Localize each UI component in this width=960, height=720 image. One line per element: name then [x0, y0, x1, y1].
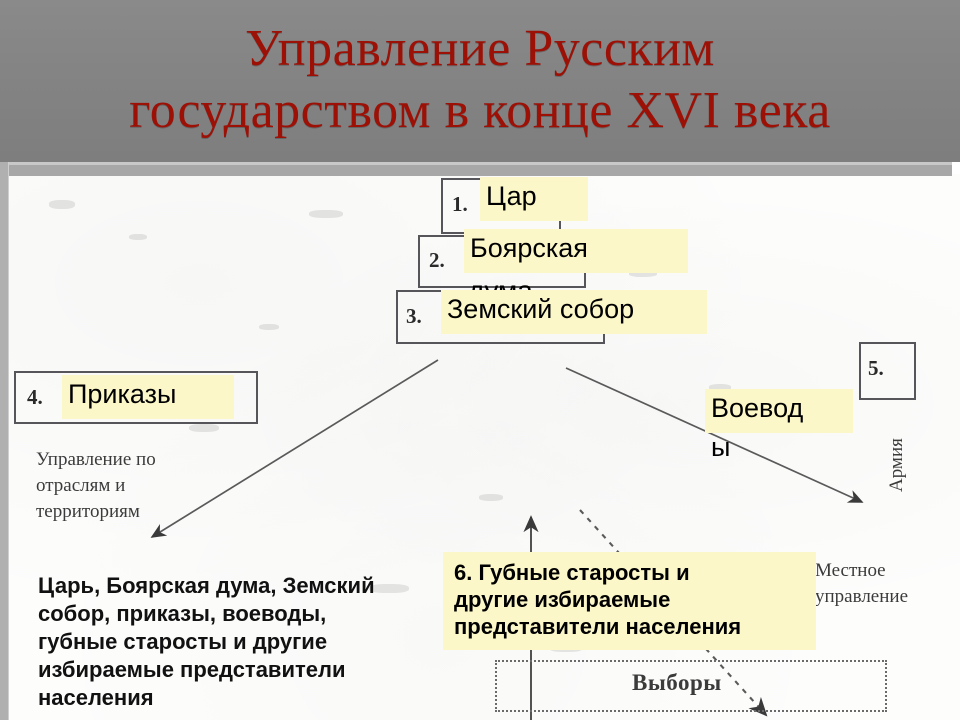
diagram-box-5-number: 5.	[868, 356, 884, 381]
overlay-label-zemsky-sobor: Земский собор	[441, 290, 707, 334]
overlay-label-voevody-overflow: ы	[711, 430, 730, 464]
overlay-label-boyarskaya-duma: Боярская	[464, 229, 688, 273]
armiya-label: Армия	[886, 438, 908, 492]
scan-speck	[259, 324, 279, 330]
diagram-box-3-number: 3.	[406, 304, 422, 329]
mestnoe-upravlenie-caption: Местное управление	[815, 558, 960, 610]
overlay-label-tsar: Цар	[480, 177, 588, 221]
overlay-label-voevody: Воевод	[705, 389, 853, 433]
prikazy-caption: Управление по отраслям и территориям	[36, 447, 256, 525]
diagram-box-4-number: 4.	[27, 385, 43, 410]
scan-top-edge	[0, 162, 952, 176]
scan-speck	[129, 234, 147, 240]
scan-speck	[49, 200, 75, 209]
scan-left-edge	[0, 162, 9, 720]
vybory-label: Выборы	[632, 670, 722, 696]
diagram-box-2-number: 2.	[429, 248, 445, 273]
summary-text: Царь, Боярская дума, Земский собор, прик…	[38, 572, 438, 712]
overlay-label-prikazy: Приказы	[62, 375, 234, 419]
scan-speck	[309, 210, 343, 218]
diagram-box-1-number: 1.	[452, 192, 468, 217]
overlay-label-gubnye-starosty: 6. Губные старосты и другие избираемые п…	[443, 552, 816, 650]
slide-canvas: Управление Русским государством в конце …	[0, 0, 960, 720]
page-title: Управление Русским государством в конце …	[0, 18, 960, 142]
scan-speck	[479, 494, 503, 501]
scan-speck	[189, 424, 219, 432]
